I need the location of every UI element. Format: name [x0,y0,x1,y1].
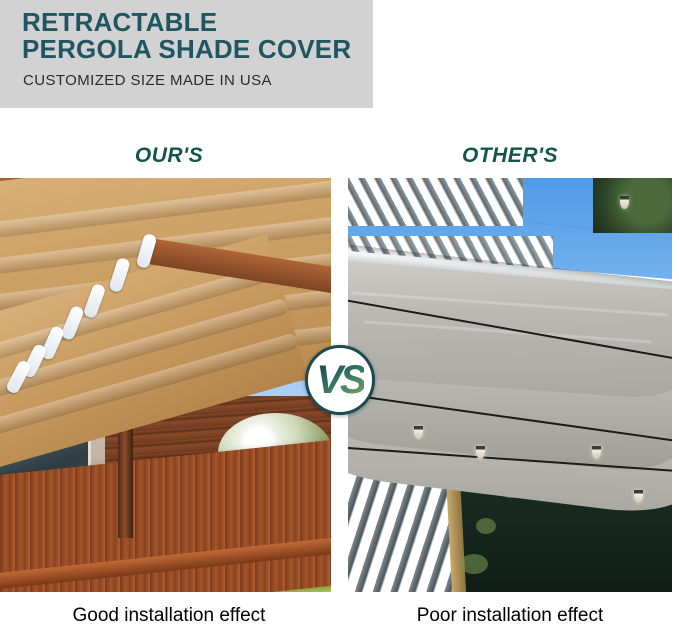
photo-poor-installation [348,178,672,592]
vs-badge-label: VS [316,360,363,400]
photo-good-installation [0,178,331,592]
column-heading-others: OTHER'S [341,142,679,170]
column-heading-ours: OUR'S [0,142,338,170]
caption-poor-installation: Poor installation effect [341,603,679,629]
caption-good-installation: Good installation effect [0,603,338,629]
leaf-highlight [460,554,488,574]
leaf-highlight [476,518,496,534]
right-margin [672,178,679,592]
product-comparison-infographic: RETRACTABLE PERGOLA SHADE COVER CUSTOMIZ… [0,0,679,635]
banner-title: RETRACTABLE PERGOLA SHADE COVER [22,9,367,63]
header-banner: RETRACTABLE PERGOLA SHADE COVER CUSTOMIZ… [0,0,373,108]
banner-subtitle: CUSTOMIZED SIZE MADE IN USA [23,72,272,89]
vs-badge: VS [305,345,375,415]
tree-foliage [593,178,672,233]
